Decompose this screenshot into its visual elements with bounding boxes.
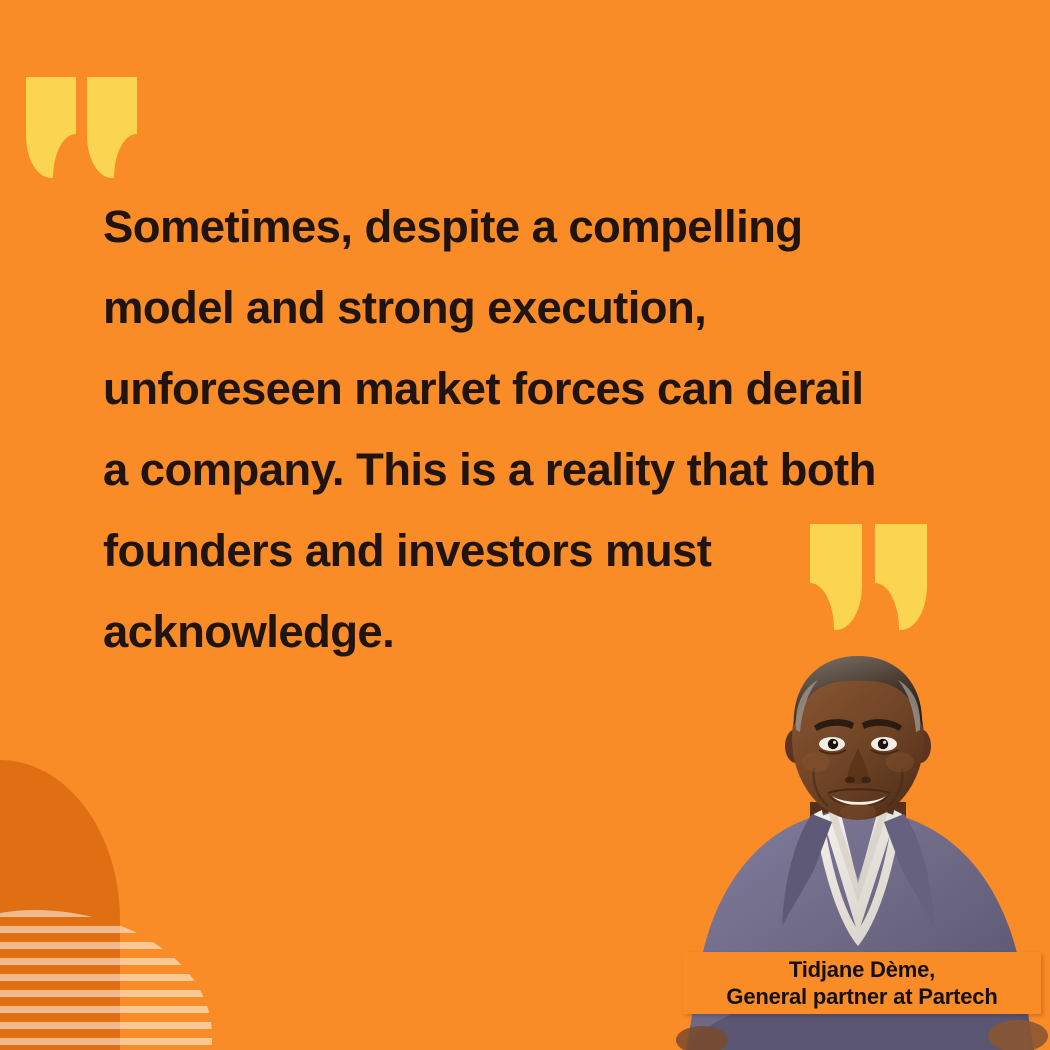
- striped-quarter-dome-decoration: [0, 910, 212, 1050]
- close-quote-mark-icon: [810, 524, 927, 630]
- attribution-box: Tidjane Dème, General partner at Partech: [683, 952, 1041, 1014]
- quote-card: Sometimes, despite a compelling model an…: [0, 0, 1050, 1050]
- close-quote-stroke-right: [875, 524, 927, 630]
- speaker-name: Tidjane Dème,: [789, 956, 935, 983]
- stripe-pattern: [0, 910, 212, 1050]
- speaker-role: General partner at Partech: [726, 983, 997, 1010]
- open-quote-mark-icon: [26, 77, 137, 178]
- open-quote-stroke-right: [87, 77, 137, 178]
- open-quote-stroke-left: [26, 77, 76, 178]
- dark-orange-arch-decoration: [0, 760, 120, 1050]
- close-quote-stroke-left: [810, 524, 862, 630]
